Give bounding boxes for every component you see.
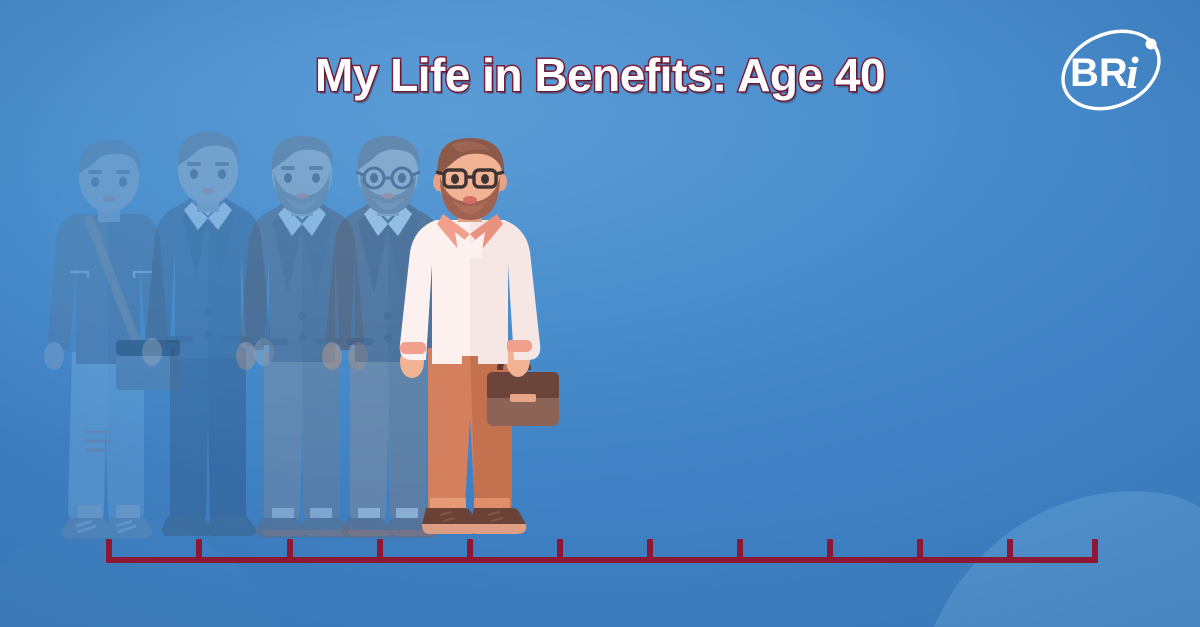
logo-orbit-dot: [1146, 39, 1157, 50]
axis-tick-12: [1092, 539, 1098, 563]
axis-tick-7: [647, 539, 653, 563]
logo-text-i: i: [1126, 47, 1139, 98]
bri-logo[interactable]: BR i: [1048, 14, 1174, 126]
axis-tick-1: [106, 539, 112, 563]
axis-line: [106, 557, 1098, 563]
axis-tick-3: [287, 539, 293, 563]
axis-tick-9: [827, 539, 833, 563]
axis-tick-6: [557, 539, 563, 563]
axis-tick-11: [1007, 539, 1013, 563]
page-title: My Life in Benefits: Age 40: [0, 48, 1200, 102]
age-timeline-axis: [106, 537, 1098, 563]
axis-tick-10: [917, 539, 923, 563]
axis-tick-4: [377, 539, 383, 563]
axis-tick-8: [737, 539, 743, 563]
axis-tick-2: [196, 539, 202, 563]
poster-canvas: My Life in Benefits: Age 40 BR i: [0, 0, 1200, 627]
axis-tick-5: [467, 539, 473, 563]
logo-text-bri: BR: [1070, 51, 1128, 95]
